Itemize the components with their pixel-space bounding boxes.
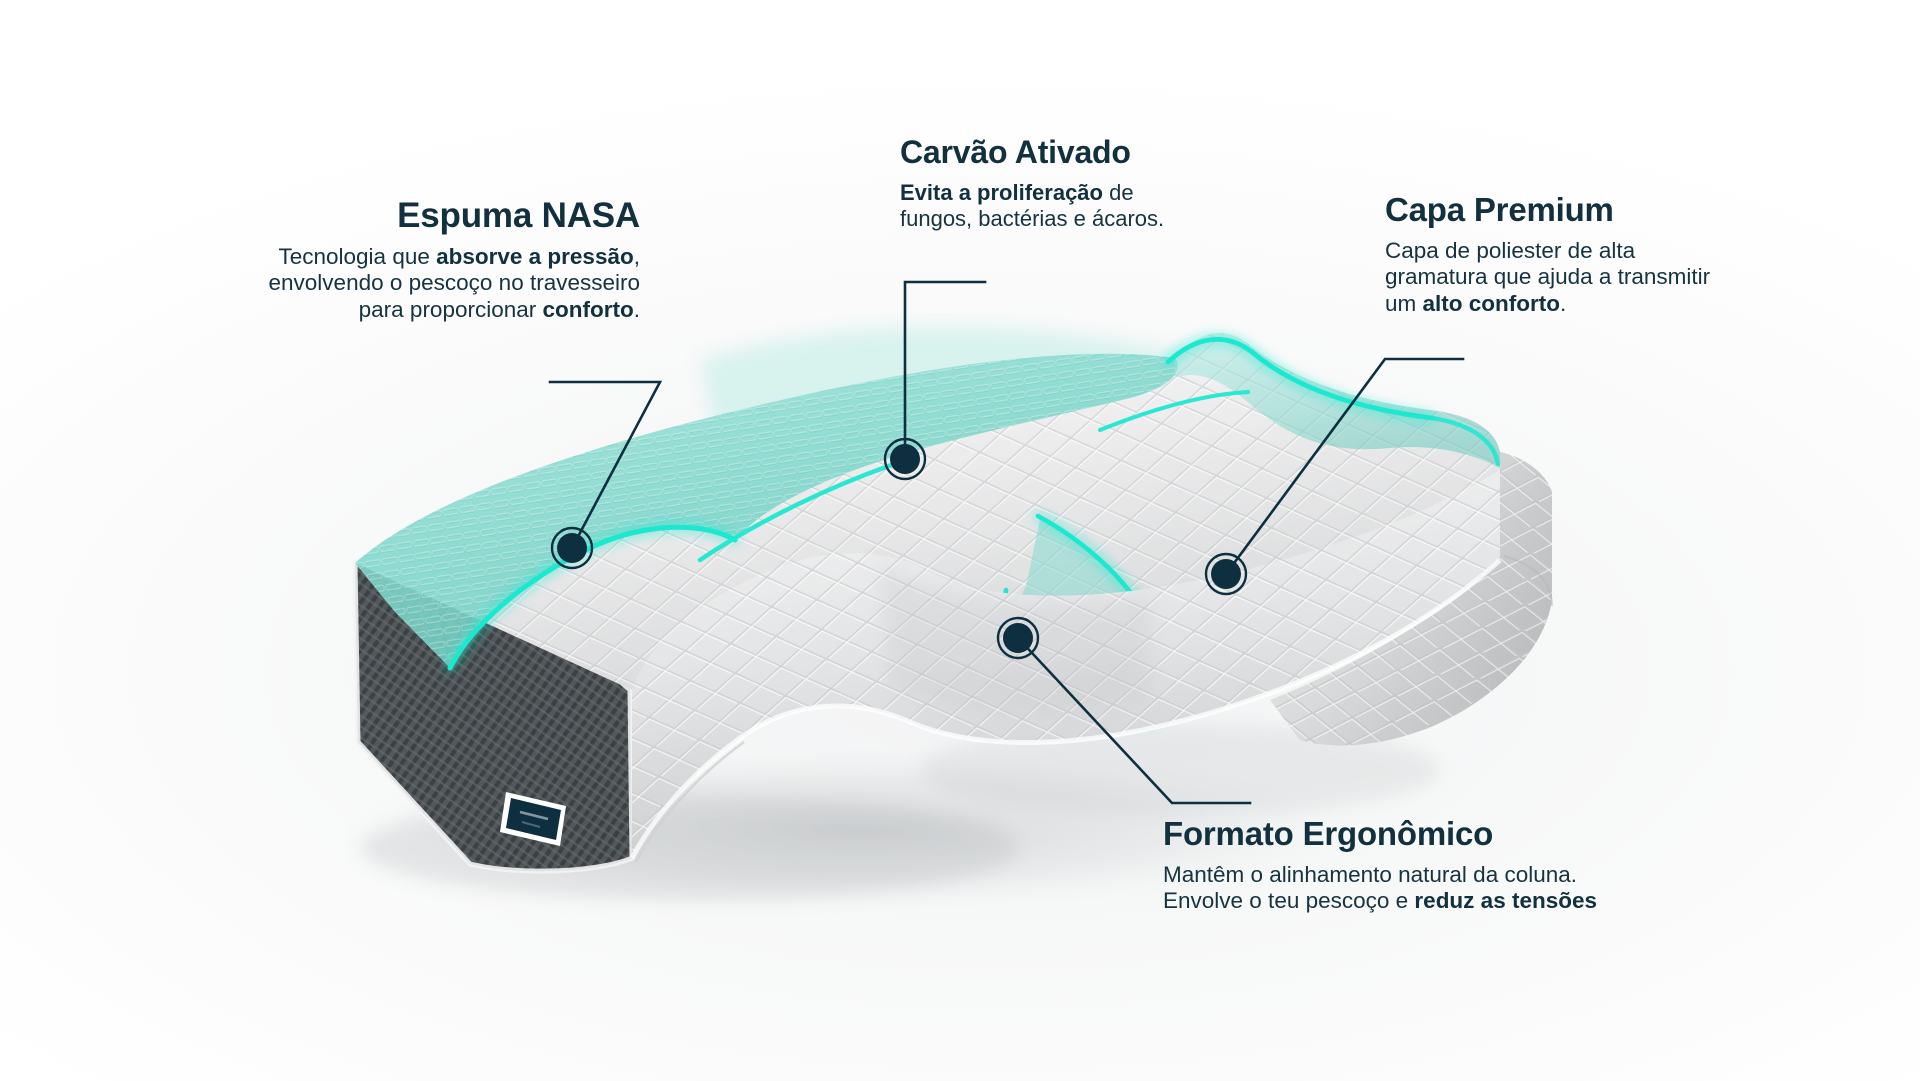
- callout-body-line: Envolve o teu pescoço e reduz as tensões: [1163, 888, 1733, 915]
- callout-body-line: gramatura que ajuda a transmitir: [1385, 264, 1825, 291]
- callout-body-line: um alto conforto.: [1385, 291, 1825, 318]
- marker-formato-ergonomico[interactable]: [998, 618, 1038, 658]
- callout-body-line: envolvendo o pescoço no travesseiro: [100, 270, 640, 297]
- callout-body-capa-premium: Capa de poliester de altagramatura que a…: [1385, 238, 1825, 318]
- callout-body-line: para proporcionar conforto.: [100, 297, 640, 324]
- marker-capa-premium[interactable]: [1206, 554, 1246, 594]
- callout-capa-premium: Capa Premium Capa de poliester de altagr…: [1385, 193, 1825, 317]
- infographic-canvas: Espuma NASA Tecnologia que absorve a pre…: [0, 0, 1920, 1081]
- callout-title-capa-premium: Capa Premium: [1385, 193, 1825, 228]
- callout-body-carvao-ativado: Evita a proliferação defungos, bactérias…: [900, 180, 1260, 232]
- callout-body-line: Tecnologia que absorve a pressão,: [100, 244, 640, 271]
- callout-body-formato-ergonomico: Mantêm o alinhamento natural da coluna.E…: [1163, 862, 1733, 915]
- callout-body-line: Mantêm o alinhamento natural da coluna.: [1163, 862, 1733, 889]
- marker-carvao-ativado[interactable]: [885, 439, 925, 479]
- callout-body-espuma-nasa: Tecnologia que absorve a pressão,envolve…: [100, 244, 640, 324]
- callout-espuma-nasa: Espuma NASA Tecnologia que absorve a pre…: [100, 198, 640, 323]
- marker-espuma-nasa[interactable]: [552, 528, 592, 568]
- callout-title-formato-ergonomico: Formato Ergonômico: [1163, 817, 1733, 852]
- callout-body-line: Capa de poliester de alta: [1385, 238, 1825, 265]
- callout-body-line: fungos, bactérias e ácaros.: [900, 206, 1260, 232]
- callout-title-carvao-ativado: Carvão Ativado: [900, 136, 1260, 170]
- callout-body-line: Evita a proliferação de: [900, 180, 1260, 206]
- callout-carvao-ativado: Carvão Ativado Evita a proliferação defu…: [900, 136, 1260, 232]
- callout-formato-ergonomico: Formato Ergonômico Mantêm o alinhamento …: [1163, 817, 1733, 915]
- callout-title-espuma-nasa: Espuma NASA: [100, 198, 640, 235]
